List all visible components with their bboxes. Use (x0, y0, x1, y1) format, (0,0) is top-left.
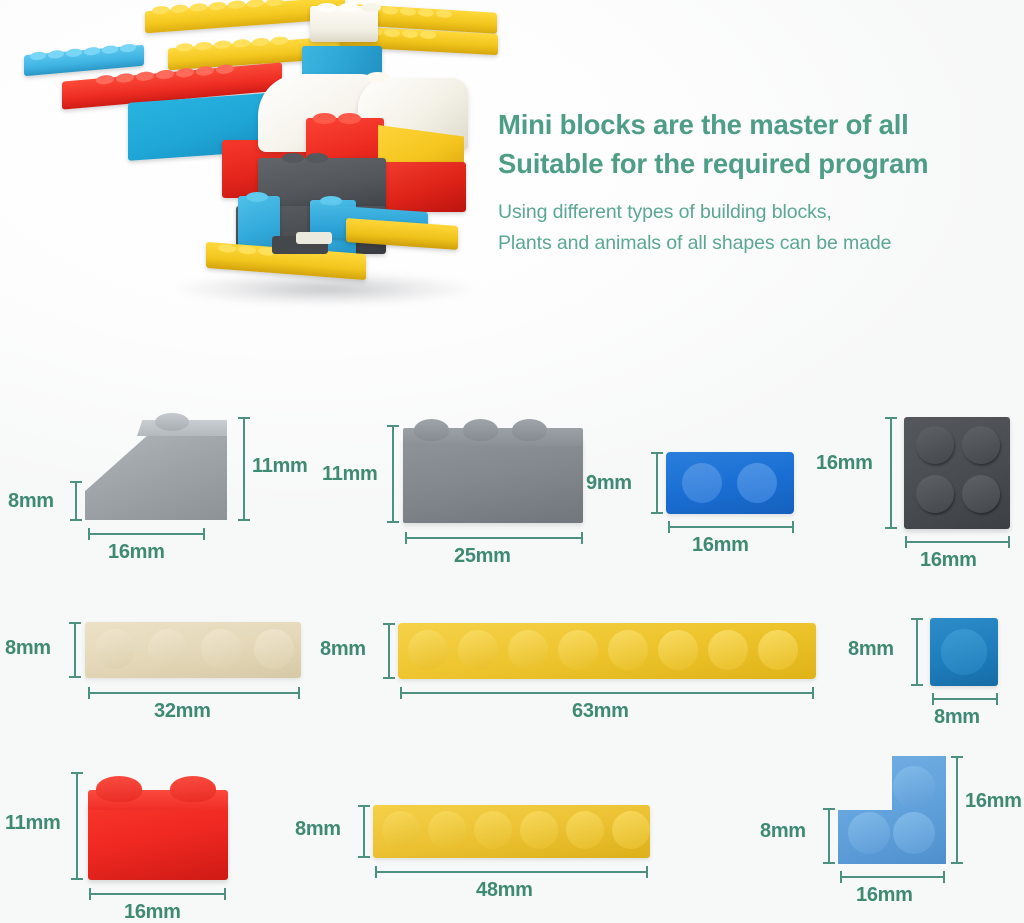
spec-item-yellow-plate-1x6: 8mm 48mm (290, 750, 740, 923)
dim-label-bottom-16mm: 16mm (692, 534, 749, 557)
stud (474, 811, 512, 849)
dim-label-bottom-16mm: 16mm (108, 541, 165, 564)
dim-line-bottom-63mm (400, 692, 814, 694)
dim-line-left-8mm (828, 808, 830, 864)
dim-label-bottom-48mm: 48mm (476, 879, 533, 902)
stud (658, 630, 698, 670)
stud (458, 630, 498, 670)
blue-corner-stud-top (893, 766, 935, 808)
dim-line-bottom-32mm (88, 692, 300, 694)
dim-line-bottom-16mm (89, 893, 226, 895)
dim-label-bottom-25mm: 25mm (454, 545, 511, 568)
blue-corner-stud-right (893, 812, 935, 854)
dim-label-left-8mm: 8mm (320, 638, 366, 661)
yellow-plate-studs (408, 630, 798, 670)
stud (708, 630, 748, 670)
subtext-line-2: Plants and animals of all shapes can be … (498, 228, 1018, 259)
dim-line-left-16mm (890, 417, 892, 529)
dim-label-bottom-8mm: 8mm (934, 706, 980, 729)
spec-item-blue-plate-1x1: 8mm 8mm (840, 600, 1024, 730)
stud (95, 629, 135, 669)
gray-brick-studs (414, 419, 547, 441)
yellow-plate-6-studs (382, 811, 650, 849)
gray-slope-stud (155, 413, 189, 431)
dim-label-left-11mm: 11mm (5, 812, 61, 835)
underbody-detail-white (296, 232, 332, 244)
stud (428, 811, 466, 849)
dim-label-left-8mm: 8mm (760, 820, 806, 843)
dim-line-left-8mm (74, 622, 76, 678)
dim-label-left-8mm: 8mm (5, 637, 51, 660)
lego-helicopter-model (10, 0, 490, 330)
red-brick-body (88, 800, 228, 880)
dark-gray-stud-tr (962, 426, 1000, 464)
dark-gray-stud-bl (916, 475, 954, 513)
stud (201, 629, 241, 669)
dim-label-left-8mm: 8mm (8, 490, 54, 513)
dim-line-left-9mm (656, 452, 658, 514)
dim-label-bottom-16mm: 16mm (856, 884, 913, 907)
dim-label-left-8mm: 8mm (848, 638, 894, 661)
nose-block-red-lower (378, 162, 466, 212)
dim-line-bottom-48mm (375, 871, 648, 873)
dim-line-bottom-25mm (405, 537, 583, 539)
stud (520, 811, 558, 849)
dim-line-bottom-16mm (668, 526, 794, 528)
dim-line-left-11mm (76, 772, 78, 880)
blue-1x1-stud (941, 629, 987, 675)
spec-item-dark-gray-brick-2x2: 16mm 16mm (850, 395, 1024, 570)
spec-item-blue-plate-1x2: 9mm 16mm (620, 395, 850, 570)
body-slab-studs (282, 153, 328, 163)
stud (96, 776, 142, 802)
dim-line-right-16mm (956, 756, 958, 864)
dim-line-bottom-16mm (88, 533, 205, 535)
dark-gray-stud-br (962, 475, 1000, 513)
headline: Mini blocks are the master of all Suitab… (498, 105, 1018, 183)
dim-line-bottom-8mm (932, 698, 998, 700)
blue-plate-stud-1 (682, 463, 722, 503)
dark-gray-stud-tl (916, 426, 954, 464)
dim-line-left-8mm (75, 481, 77, 521)
headline-line-2: Suitable for the required program (498, 144, 1018, 183)
stud (254, 629, 294, 669)
stud (463, 419, 498, 441)
tan-plate-studs (95, 629, 294, 669)
dim-label-left-9mm: 9mm (586, 472, 632, 495)
stud (566, 811, 604, 849)
subtext: Using different types of building blocks… (498, 197, 1018, 259)
dim-line-left-8mm (363, 805, 365, 858)
dim-line-left-8mm (916, 618, 918, 686)
blue-plate-stud-2 (737, 463, 777, 503)
spec-item-gray-slope-brick: 8mm 11mm 16mm (0, 395, 280, 570)
dim-label-left-8mm: 8mm (295, 818, 341, 841)
dim-line-left-11mm (392, 425, 394, 523)
stud (512, 419, 547, 441)
blue-corner-stud-left (848, 812, 890, 854)
stud (414, 419, 449, 441)
canopy-stud (366, 72, 390, 83)
spec-item-gray-brick-1x3: 11mm 25mm (320, 395, 620, 570)
stud (558, 630, 598, 670)
dim-label-bottom-16mm: 16mm (124, 901, 181, 923)
dim-label-left-16mm: 16mm (816, 452, 873, 475)
stud (612, 811, 650, 849)
spec-item-blue-corner-plate: 8mm 16mm 16mm (760, 750, 1024, 923)
red-brick-studs (96, 776, 216, 802)
dim-line-bottom-16mm (840, 876, 945, 878)
stud (758, 630, 798, 670)
product-infographic-page: Mini blocks are the master of all Suitab… (0, 0, 1024, 923)
spec-item-yellow-plate-1x8: 8mm 63mm (320, 600, 840, 730)
stud (382, 811, 420, 849)
dim-label-bottom-32mm: 32mm (154, 700, 211, 723)
dim-label-right-11mm: 11mm (252, 455, 308, 478)
dim-label-bottom-63mm: 63mm (572, 700, 629, 723)
stud (408, 630, 448, 670)
stud (148, 629, 188, 669)
hero-section: Mini blocks are the master of all Suitab… (0, 0, 1024, 390)
rotor-hub-studs (317, 3, 381, 12)
stud (508, 630, 548, 670)
subtext-line-1: Using different types of building blocks… (498, 197, 1018, 228)
dim-label-left-11mm: 11mm (322, 463, 378, 486)
dim-label-bottom-16mm: 16mm (920, 549, 977, 572)
gray-brick-body (403, 437, 583, 523)
body-brick-red-studs (313, 113, 361, 124)
stud (608, 630, 648, 670)
spec-item-red-brick-1x2: 11mm 16mm (0, 750, 300, 923)
dim-line-bottom-16mm (905, 541, 1010, 543)
hero-copy: Mini blocks are the master of all Suitab… (498, 105, 1018, 259)
headline-line-1: Mini blocks are the master of all (498, 105, 1018, 144)
dim-label-right-16mm: 16mm (965, 790, 1022, 813)
spec-item-tan-plate-1x4: 8mm 32mm (0, 600, 320, 730)
landing-strut-left-stud (246, 192, 268, 202)
dim-line-left-8mm (388, 623, 390, 679)
stud (170, 776, 216, 802)
dim-line-right-11mm (243, 417, 245, 521)
